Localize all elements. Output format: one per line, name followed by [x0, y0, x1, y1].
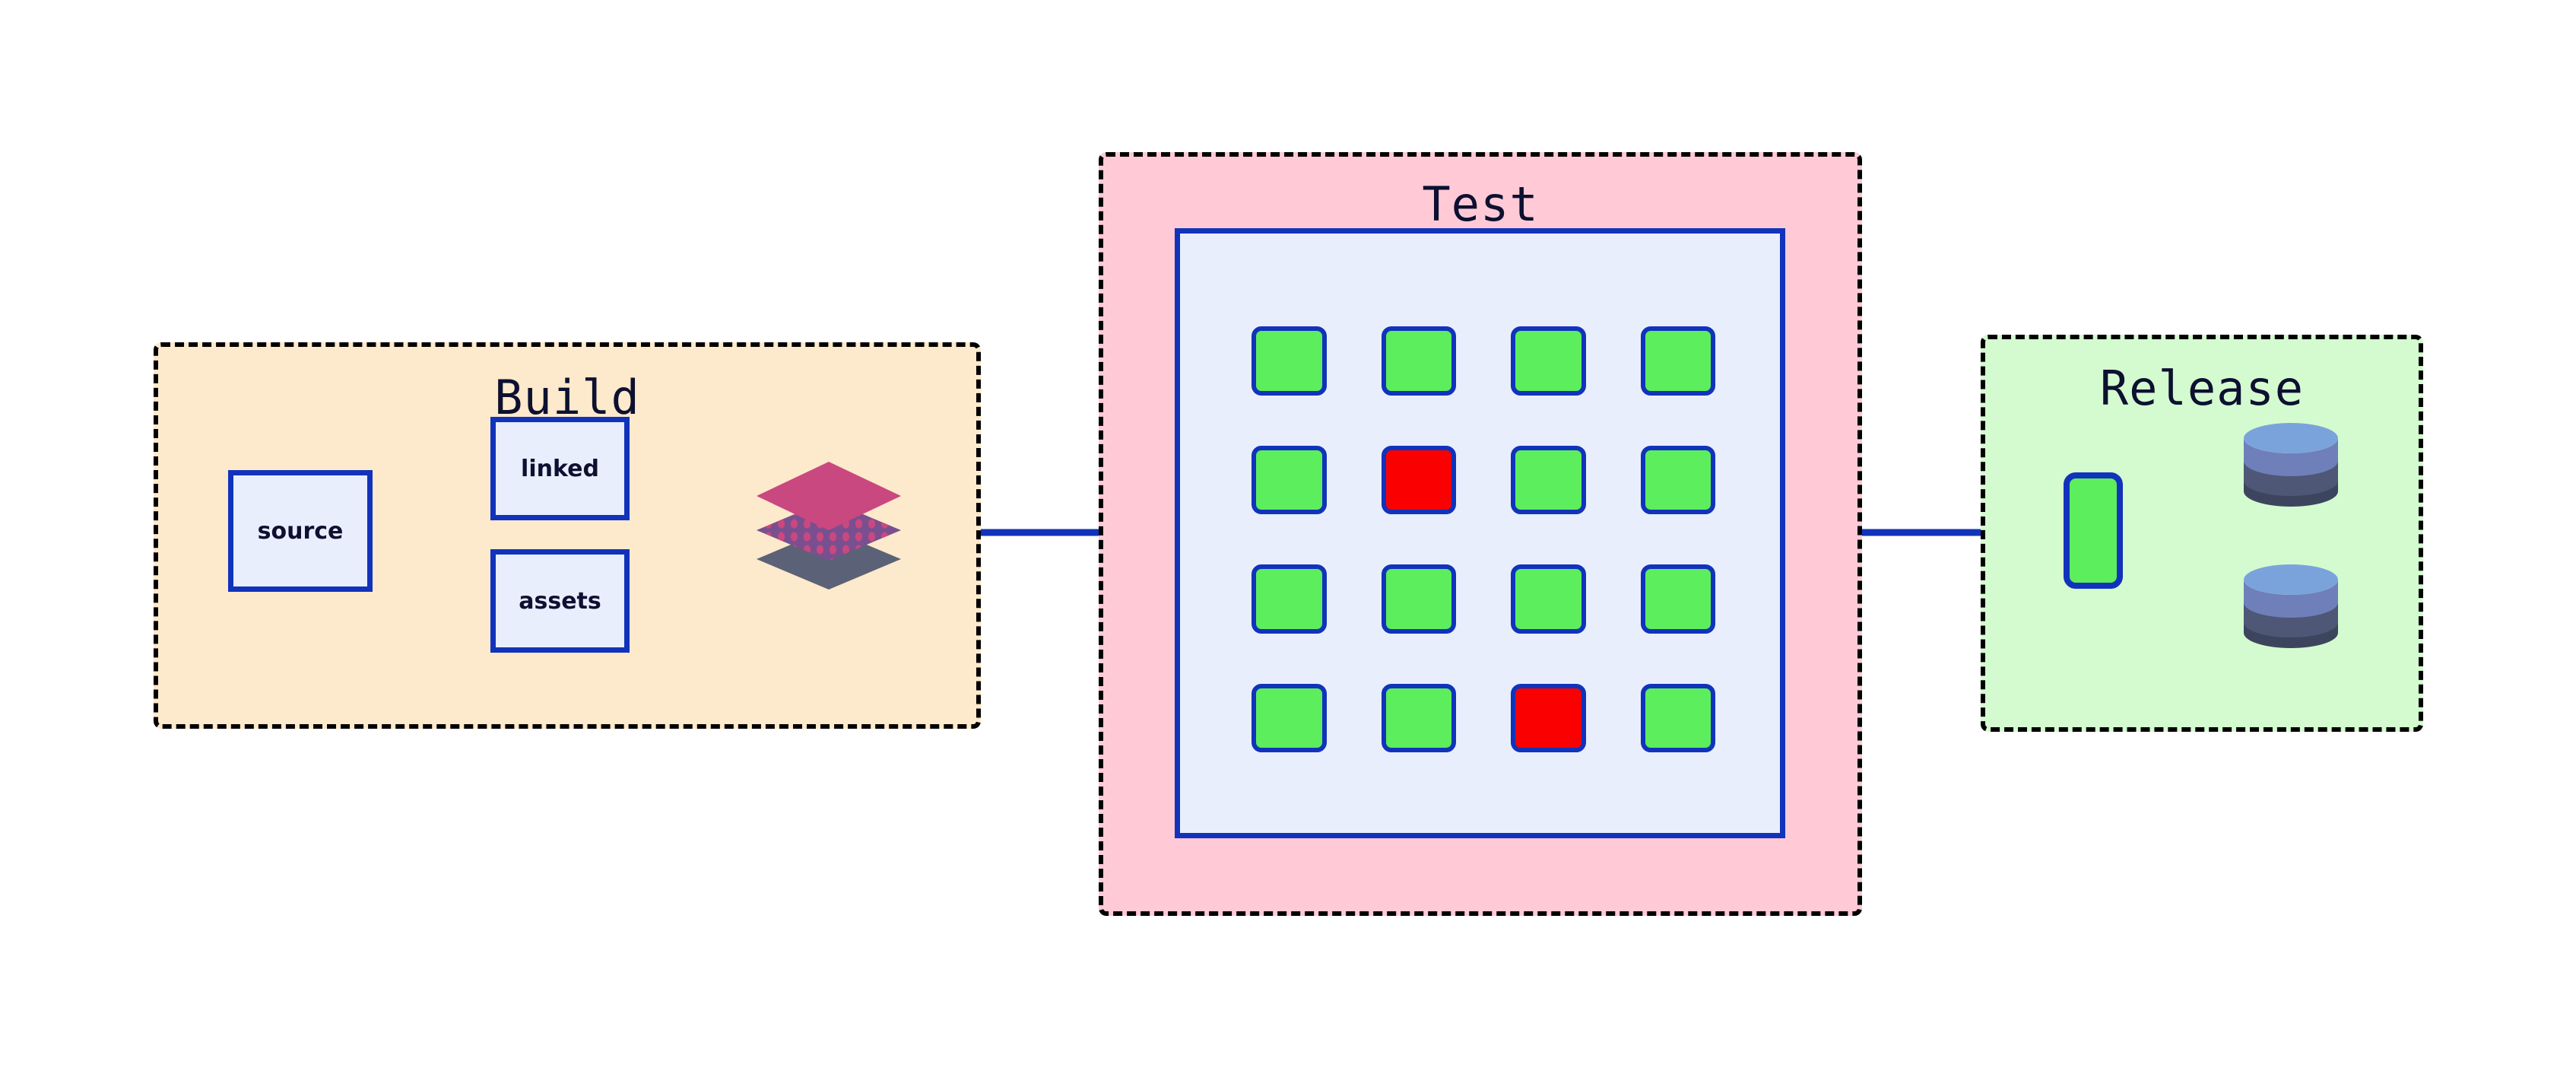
diagram-canvas: Build source linked assets Test Release	[0, 0, 2576, 1068]
database-cylinder-icon[interactable]	[2241, 561, 2341, 656]
node-source-label: source	[258, 518, 344, 545]
test-cell-pass[interactable]	[1382, 684, 1457, 753]
stage-release-title: Release	[1985, 361, 2419, 416]
stage-release[interactable]: Release	[1981, 335, 2423, 732]
stacked-layers-icon[interactable]	[749, 453, 909, 593]
test-cell-pass[interactable]	[1641, 564, 1716, 634]
test-cell-pass[interactable]	[1511, 446, 1586, 515]
node-linked-label: linked	[521, 456, 599, 482]
test-cell-pass[interactable]	[1511, 564, 1586, 634]
test-cell-pass[interactable]	[1641, 684, 1716, 753]
test-cell-pass[interactable]	[1641, 326, 1716, 396]
test-cell-pass[interactable]	[1252, 684, 1327, 753]
stage-test-title: Test	[1103, 176, 1857, 232]
db-top-ellipse	[2244, 564, 2338, 595]
database-cylinder-icon[interactable]	[2241, 420, 2341, 514]
test-cell-pass[interactable]	[1382, 564, 1457, 634]
test-cell-pass[interactable]	[1511, 326, 1586, 396]
test-cell-pass[interactable]	[1641, 446, 1716, 515]
test-cell-pass[interactable]	[1252, 326, 1327, 396]
test-cell-fail[interactable]	[1511, 684, 1586, 753]
test-results-panel	[1175, 228, 1785, 838]
test-results-grid	[1252, 326, 1715, 752]
node-assets-label: assets	[519, 588, 601, 615]
node-source[interactable]: source	[228, 470, 373, 592]
layer-top	[757, 462, 901, 530]
test-cell-fail[interactable]	[1382, 446, 1457, 515]
test-cell-pass[interactable]	[1382, 326, 1457, 396]
test-cell-pass[interactable]	[1252, 446, 1327, 515]
node-linked[interactable]: linked	[490, 417, 630, 520]
test-cell-pass[interactable]	[1252, 564, 1327, 634]
node-assets[interactable]: assets	[490, 549, 630, 653]
release-gate-node[interactable]	[2064, 472, 2123, 589]
db-top-ellipse	[2244, 423, 2338, 453]
